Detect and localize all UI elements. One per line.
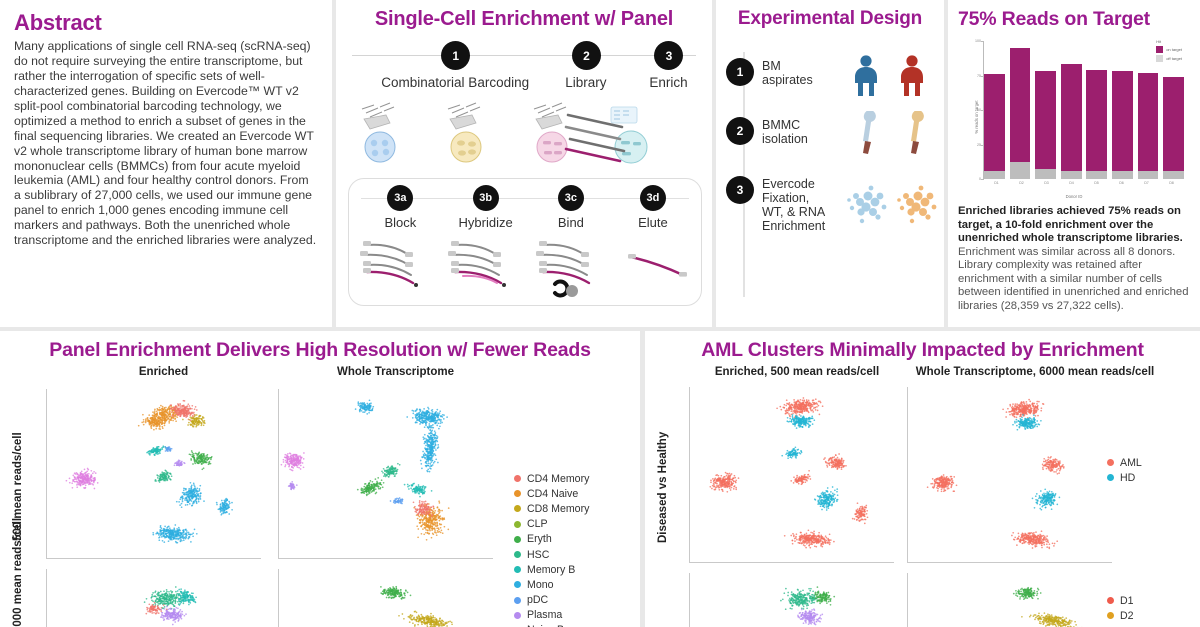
- umap-enriched-6000: [46, 569, 261, 627]
- umap-aml-enriched-points: [689, 387, 894, 563]
- experimental-design-panel: Experimental Design 1 BM aspirates: [716, 0, 944, 327]
- legend-dot: [514, 566, 521, 573]
- legend-label: CD4 Memory: [527, 473, 589, 485]
- umap-whole-6000: [278, 569, 493, 627]
- workflow-node-1: 1: [441, 41, 470, 70]
- disease-status-legend: AMLHD: [1107, 455, 1142, 485]
- cell-cluster-icons: [844, 176, 944, 236]
- bar-column: [1010, 41, 1031, 179]
- bar-legend-item-on-target: on target: [1156, 46, 1182, 53]
- on-target-label: on target: [1166, 47, 1182, 52]
- substep-labels: Block Hybridize Bind Elute: [361, 215, 689, 233]
- legend-dot: [514, 612, 521, 619]
- legend-dot: [514, 475, 521, 482]
- legend-dot: [1107, 612, 1114, 619]
- cell-type-legend-item: pDC: [514, 593, 589, 608]
- substep-illustration: [357, 235, 697, 305]
- reads-on-target-panel: 75% Reads on Target % reads on target 02…: [948, 0, 1200, 327]
- umap-enriched-500-points: [46, 389, 261, 559]
- bar-ytick-mark: [981, 179, 984, 180]
- bar-chart-ylabel: % reads on target: [974, 100, 979, 133]
- umap-donor-enriched-points: [689, 573, 894, 627]
- legend-dot: [514, 536, 521, 543]
- umap-right-col-enriched: Enriched, 500 mean reads/cell: [697, 366, 897, 378]
- workflow-node-3: 3: [654, 41, 683, 70]
- bar-segment-off-target: [1061, 171, 1082, 179]
- cell-type-legend-item: CLP: [514, 517, 589, 532]
- bar-xtick: D7: [1144, 181, 1149, 185]
- legend-label: AML: [1120, 457, 1142, 469]
- donor-legend: D1D2: [1107, 593, 1134, 623]
- cell-type-legend-item: Naive B: [514, 623, 589, 627]
- legend-label: CD4 Naive: [527, 488, 578, 500]
- legend-label: HD: [1120, 472, 1135, 484]
- donor-legend-item: D1: [1107, 593, 1134, 608]
- off-target-label: off target: [1166, 56, 1182, 61]
- donor-person-icons: [850, 54, 936, 98]
- umap-aml-whole-points: [907, 387, 1112, 563]
- legend-dot: [514, 597, 521, 604]
- legend-dot: [514, 505, 521, 512]
- umap-donor-whole-points: [907, 573, 1112, 627]
- legend-dot: [514, 551, 521, 558]
- umap-whole-500: [278, 389, 493, 559]
- cell-type-legend-item: CD4 Naive: [514, 486, 589, 501]
- bar-segment-on-target: [1086, 70, 1107, 171]
- abstract-title: Abstract: [14, 10, 318, 36]
- substep-label-hybridize: Hybridize: [459, 215, 513, 230]
- aml-clusters-panel: AML Clusters Minimally Impacted by Enric…: [645, 331, 1200, 627]
- bar-panel-caption: Enriched libraries achieved 75% reads on…: [958, 205, 1190, 313]
- barcoding-illustration: [354, 99, 710, 171]
- umap-left-col-whole: Whole Transcriptome: [288, 366, 503, 378]
- umap-right-row-label: Diseased vs Healthy: [657, 393, 669, 543]
- umap-whole-6000-points: [278, 569, 493, 627]
- ed-step-1-number: 1: [726, 58, 754, 86]
- substep-rail: 3a 3b 3c 3d: [361, 185, 689, 212]
- umap-donor-whole: [907, 573, 1112, 627]
- substep-node-3a: 3a: [387, 185, 413, 211]
- legend-label: CD8 Memory: [527, 503, 589, 515]
- bar-xtick: D1: [994, 181, 999, 185]
- workflow-illustration: [354, 99, 694, 171]
- bar-segment-off-target: [984, 171, 1005, 179]
- umap-right-title: AML Clusters Minimally Impacted by Enric…: [655, 339, 1190, 362]
- umap-enriched-500: [46, 389, 261, 559]
- legend-label: pDC: [527, 594, 548, 606]
- ed-step-1: 1 BM aspirates: [726, 58, 934, 87]
- workflow-label-enrich: Enrich: [649, 75, 687, 90]
- bar-xtick: D5: [1094, 181, 1099, 185]
- off-target-swatch: [1156, 55, 1163, 62]
- legend-label: CLP: [527, 518, 548, 530]
- legend-label: Plasma: [527, 609, 562, 621]
- legend-label: D1: [1120, 595, 1134, 607]
- legend-label: Memory B: [527, 564, 575, 576]
- bar-column: [984, 41, 1005, 179]
- ed-step-3-label: Evercode Fixation, WT, & RNA Enrichment: [762, 176, 825, 233]
- bar-column: [1035, 41, 1056, 179]
- bar-legend-item-off-target: off target: [1156, 55, 1182, 62]
- workflow-step-labels: Combinatorial Barcoding Library Enrich: [352, 75, 696, 95]
- umap-right-col-whole: Whole Transcriptome, 6000 mean reads/cel…: [915, 366, 1155, 378]
- cell-type-legend-item: HSC: [514, 547, 589, 562]
- bar-chart-bars: [984, 41, 1184, 179]
- ed-step-3: 3 Evercode Fixation, WT, & RNA Enrichmen…: [726, 176, 934, 233]
- ed-step-2-label: BMMC isolation: [762, 117, 808, 146]
- bar-segment-off-target: [1138, 171, 1159, 179]
- bar-segment-on-target: [1010, 48, 1031, 163]
- legend-label: Eryth: [527, 533, 552, 545]
- bone-marrow-icons: [850, 111, 942, 157]
- cell-type-legend-item: CD8 Memory: [514, 501, 589, 516]
- bar-segment-off-target: [1112, 171, 1133, 179]
- panel-enrichment-resolution-panel: Panel Enrichment Delivers High Resolutio…: [0, 331, 640, 627]
- cell-type-legend-item: CD4 Memory: [514, 471, 589, 486]
- bar-segment-on-target: [984, 74, 1005, 171]
- bar-segment-off-target: [1010, 162, 1031, 179]
- bar-segment-on-target: [1035, 71, 1056, 169]
- bar-column: [1086, 41, 1107, 179]
- on-target-swatch: [1156, 46, 1163, 53]
- legend-label: Mono: [527, 579, 554, 591]
- substep-node-3b: 3b: [473, 185, 499, 211]
- umap-aml-enriched: [689, 387, 894, 563]
- substep-label-elute: Elute: [638, 215, 668, 230]
- bar-chart-legend: Hit on target off target: [1156, 39, 1182, 64]
- bar-xtick: D6: [1119, 181, 1124, 185]
- legend-dot: [514, 521, 521, 528]
- disease-legend-item: AML: [1107, 455, 1142, 470]
- disease-legend-item: HD: [1107, 470, 1142, 485]
- enrich-substeps-box: 3a 3b 3c 3d Block Hybridize Bind Elute: [348, 178, 702, 306]
- bar-xtick: D4: [1069, 181, 1074, 185]
- workflow-rail: 1 2 3: [352, 41, 696, 71]
- bar-caption-bold: Enriched libraries achieved 75% reads on…: [958, 205, 1183, 244]
- experimental-design-title: Experimental Design: [726, 8, 934, 30]
- bar-xtick: D8: [1169, 181, 1174, 185]
- donor-legend-item: D2: [1107, 608, 1134, 623]
- ed-step-2-number: 2: [726, 117, 754, 145]
- poster-root: Abstract Many applications of single cel…: [0, 0, 1200, 627]
- ed-step-2: 2 BMMC isolation: [726, 117, 934, 146]
- legend-dot: [1107, 597, 1114, 604]
- abstract-panel: Abstract Many applications of single cel…: [0, 0, 332, 327]
- cell-type-legend-item: Memory B: [514, 562, 589, 577]
- umap-left-row-label-6000: 6000 mean reads/cell: [12, 553, 24, 627]
- legend-label: HSC: [527, 549, 549, 561]
- bar-chart-xlabel: Donor ID: [958, 194, 1190, 199]
- workflow-panel: Single-Cell Enrichment w/ Panel 1 2 3 Co…: [336, 0, 712, 327]
- workflow-label-library: Library: [565, 75, 606, 90]
- bar-chart-plot-area: 0255075100 D1D2D3D4D5D6D7D8: [984, 41, 1184, 179]
- umap-whole-500-points: [278, 389, 493, 559]
- workflow-label-barcoding: Combinatorial Barcoding: [381, 75, 529, 90]
- bar-segment-off-target: [1163, 171, 1184, 179]
- workflow-node-2: 2: [572, 41, 601, 70]
- bar-segment-on-target: [1112, 71, 1133, 170]
- abstract-body: Many applications of single cell RNA-seq…: [14, 39, 318, 248]
- umap-aml-whole: [907, 387, 1112, 563]
- bar-segment-on-target: [1138, 73, 1159, 171]
- reads-on-target-chart: % reads on target 0255075100 D1D2D3D4D5D…: [958, 33, 1190, 201]
- legend-dot: [1107, 459, 1114, 466]
- bar-legend-title: Hit: [1156, 39, 1182, 44]
- legend-dot: [514, 490, 521, 497]
- bar-xtick: D3: [1044, 181, 1049, 185]
- workflow-title: Single-Cell Enrichment w/ Panel: [346, 8, 702, 31]
- bar-column: [1061, 41, 1082, 179]
- substep-node-3c: 3c: [558, 185, 584, 211]
- umap-left-col-enriched: Enriched: [56, 366, 271, 378]
- bar-segment-on-target: [1163, 77, 1184, 171]
- bar-panel-title: 75% Reads on Target: [958, 8, 1190, 31]
- bar-xtick: D2: [1019, 181, 1024, 185]
- bar-segment-off-target: [1086, 171, 1107, 179]
- cell-type-legend: CD4 MemoryCD4 NaiveCD8 MemoryCLPErythHSC…: [514, 471, 589, 627]
- substep-node-3d: 3d: [640, 185, 666, 211]
- legend-dot: [514, 581, 521, 588]
- cell-type-legend-item: Eryth: [514, 532, 589, 547]
- bar-segment-off-target: [1035, 169, 1056, 179]
- bar-column: [1112, 41, 1133, 179]
- umap-enriched-6000-points: [46, 569, 261, 627]
- substep-label-bind: Bind: [558, 215, 584, 230]
- cell-type-legend-item: Mono: [514, 577, 589, 592]
- umap-donor-enriched: [689, 573, 894, 627]
- ed-step-3-number: 3: [726, 176, 754, 204]
- legend-label: D2: [1120, 610, 1134, 622]
- ed-step-1-label: BM aspirates: [762, 58, 813, 87]
- bar-segment-on-target: [1061, 64, 1082, 170]
- bar-caption-rest: Enrichment was similar across all 8 dono…: [958, 246, 1189, 312]
- umap-left-title: Panel Enrichment Delivers High Resolutio…: [10, 339, 630, 362]
- substep-label-block: Block: [384, 215, 416, 230]
- legend-dot: [1107, 474, 1114, 481]
- cell-type-legend-item: Plasma: [514, 608, 589, 623]
